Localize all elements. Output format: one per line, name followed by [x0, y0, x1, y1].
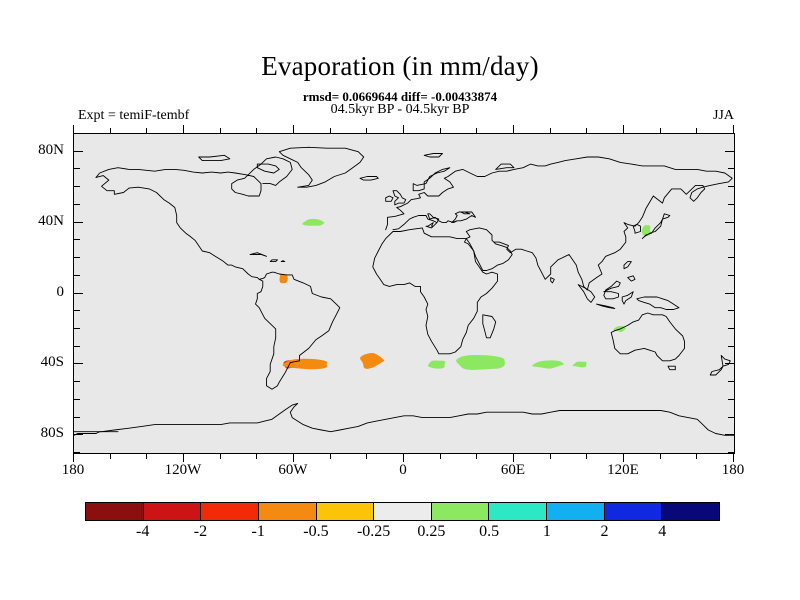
lon-axis-label: 120W	[165, 462, 202, 478]
lat-tick	[74, 275, 80, 276]
lat-axis-label: 80S	[41, 426, 64, 441]
colorbar-tick-label: 0.5	[479, 523, 499, 541]
lat-tick	[74, 222, 83, 223]
lat-tick-right	[728, 310, 734, 311]
lon-tick	[440, 453, 441, 459]
lon-tick-top	[403, 125, 404, 134]
lon-tick	[733, 453, 734, 462]
lon-tick-top	[623, 125, 624, 134]
anomaly-patch	[360, 353, 384, 369]
colorbar-tick-label: 1	[543, 523, 551, 541]
lat-tick	[74, 417, 80, 418]
world-map-canvas	[74, 134, 734, 453]
coastline	[611, 313, 684, 361]
coastline	[74, 403, 734, 435]
colorbar-segment[interactable]	[143, 503, 201, 520]
colorbar-tick-label: -4	[136, 523, 149, 541]
colorbar-tick-label: -1	[252, 523, 265, 541]
coastline	[413, 168, 450, 191]
page-title: Evaporation (in mm/day)	[0, 50, 800, 82]
coastline	[373, 228, 498, 354]
lon-tick	[550, 453, 551, 459]
lon-tick-top	[183, 125, 184, 134]
anomaly-patch	[302, 219, 324, 226]
anomaly-patch	[456, 355, 505, 370]
lon-tick-top	[476, 128, 477, 134]
lon-tick-top	[330, 128, 331, 134]
lat-tick-right	[728, 186, 734, 187]
lon-tick	[293, 453, 294, 462]
coastline	[360, 177, 378, 181]
coastline	[386, 157, 733, 290]
lat-axis-label: 0	[57, 285, 65, 300]
colorbar-tick-label: -0.25	[357, 523, 390, 541]
experiment-label: Expt = temiF-tembf	[78, 108, 189, 124]
coastline	[270, 260, 277, 262]
coastline	[393, 212, 476, 230]
coastline	[96, 157, 292, 196]
lon-tick	[330, 453, 331, 459]
colorbar-segment[interactable]	[604, 503, 662, 520]
coastline	[199, 155, 230, 160]
lat-tick	[74, 452, 80, 453]
coastline	[637, 297, 679, 310]
lat-tick	[74, 133, 80, 134]
lat-axis-label: 40S	[41, 355, 64, 370]
lat-tick	[74, 239, 80, 240]
colorbar-segment[interactable]	[661, 503, 719, 520]
lon-axis-label: 180	[62, 462, 85, 478]
coastline	[604, 281, 621, 299]
lon-tick-top	[586, 128, 587, 134]
coastline	[424, 154, 442, 158]
lon-axis-label: 60E	[501, 462, 525, 478]
coastline	[551, 278, 555, 283]
lon-tick	[660, 453, 661, 459]
lat-tick	[74, 204, 80, 205]
lat-axis-label: 80N	[38, 143, 64, 158]
coastline	[393, 191, 406, 205]
season-label: JJA	[713, 108, 734, 124]
lat-tick	[74, 168, 80, 169]
colorbar-segment[interactable]	[488, 503, 546, 520]
lon-tick-top	[73, 125, 74, 134]
lon-tick	[513, 453, 514, 462]
lat-tick-right	[728, 239, 734, 240]
lon-tick	[366, 453, 367, 459]
lon-tick	[220, 453, 221, 459]
lon-tick-top	[696, 128, 697, 134]
lat-tick	[74, 363, 83, 364]
coastline	[257, 164, 279, 173]
lon-tick-top	[220, 128, 221, 134]
lat-tick	[74, 293, 83, 294]
coastline-layer	[74, 147, 734, 435]
coastline	[496, 164, 514, 169]
coastline	[622, 292, 633, 304]
lat-tick-right	[728, 168, 734, 169]
coastline	[250, 253, 267, 257]
colorbar-segment[interactable]	[86, 503, 143, 520]
lat-tick	[74, 257, 80, 258]
lat-tick-right	[725, 363, 734, 364]
lat-tick-right	[728, 204, 734, 205]
lon-tick-top	[550, 128, 551, 134]
coastline	[386, 196, 393, 201]
colorbar-tick-label: 4	[658, 523, 666, 541]
lon-tick	[623, 453, 624, 462]
lat-tick-right	[728, 346, 734, 347]
lat-tick-right	[728, 399, 734, 400]
lon-axis-label: 0	[399, 462, 407, 478]
colorbar-segment[interactable]	[316, 503, 374, 520]
colorbar[interactable]	[85, 502, 720, 521]
lat-tick	[74, 186, 80, 187]
lat-tick-right	[728, 381, 734, 382]
lon-tick	[110, 453, 111, 459]
lon-tick	[73, 453, 74, 462]
lat-tick	[74, 381, 80, 382]
lat-tick	[74, 434, 83, 435]
lon-axis-label: 60W	[278, 462, 307, 478]
lat-tick-right	[728, 417, 734, 418]
colorbar-tick-label: -0.5	[303, 523, 328, 541]
lon-tick-top	[146, 128, 147, 134]
lon-tick-top	[733, 125, 734, 134]
colorbar-segment[interactable]	[373, 503, 431, 520]
lon-tick	[696, 453, 697, 459]
coastline	[624, 262, 631, 269]
colorbar-tick-label: 0.25	[417, 523, 445, 541]
anomaly-patch	[572, 362, 586, 368]
coastline	[710, 356, 730, 376]
lat-tick-right	[728, 328, 734, 329]
lat-tick	[74, 310, 80, 311]
coastline	[628, 276, 635, 281]
lon-tick-top	[660, 128, 661, 134]
lon-tick-top	[110, 128, 111, 134]
lat-tick-right	[728, 257, 734, 258]
colorbar-segment[interactable]	[200, 503, 258, 520]
coastline	[96, 176, 340, 390]
lat-tick	[74, 346, 80, 347]
anomaly-patch	[279, 274, 287, 283]
coastline	[668, 366, 675, 370]
lon-tick	[256, 453, 257, 459]
lon-tick	[183, 453, 184, 462]
lat-tick	[74, 328, 80, 329]
lon-tick	[476, 453, 477, 459]
coastline	[633, 224, 640, 233]
colorbar-segment[interactable]	[431, 503, 489, 520]
colorbar-segment[interactable]	[546, 503, 604, 520]
lat-tick-right	[725, 293, 734, 294]
coastline	[281, 261, 285, 262]
colorbar-tick-label: 2	[601, 523, 609, 541]
colorbar-tick-label: -2	[194, 523, 207, 541]
lon-tick-top	[256, 128, 257, 134]
lat-tick-right	[725, 151, 734, 152]
anomaly-patch	[428, 361, 446, 369]
lon-tick	[403, 453, 404, 462]
map-plot-area[interactable]	[73, 133, 735, 454]
lat-tick	[74, 399, 80, 400]
lon-tick-top	[366, 128, 367, 134]
lon-tick	[146, 453, 147, 459]
lat-axis-label: 40N	[38, 214, 64, 229]
coastline	[597, 304, 615, 309]
lat-tick-right	[725, 222, 734, 223]
lon-tick	[586, 453, 587, 459]
anomaly-patch	[532, 360, 564, 368]
colorbar-segment[interactable]	[258, 503, 316, 520]
lon-axis-label: 180	[722, 462, 745, 478]
lat-tick-right	[728, 275, 734, 276]
lon-tick-top	[440, 128, 441, 134]
lon-tick-top	[513, 125, 514, 134]
lon-tick-top	[293, 125, 294, 134]
coastline	[578, 285, 595, 303]
anomaly-patch	[642, 225, 651, 236]
lon-axis-label: 120E	[607, 462, 639, 478]
coastline	[483, 315, 496, 338]
lat-tick	[74, 151, 83, 152]
lat-tick-right	[725, 434, 734, 435]
